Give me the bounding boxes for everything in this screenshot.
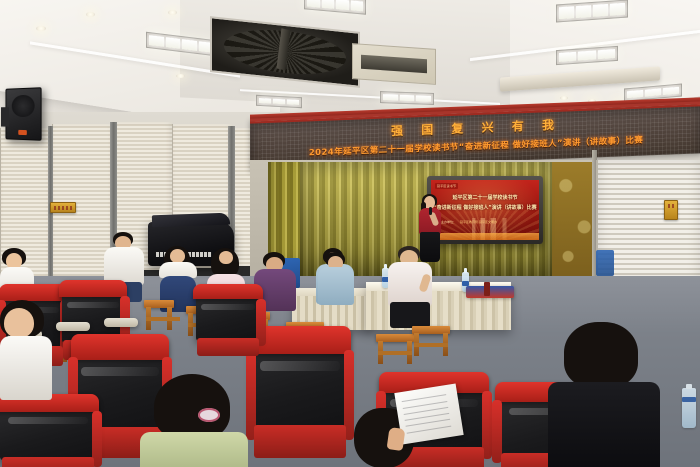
slide-meta: 主办单位： 延平区教育局·延平区文明办 — [441, 220, 497, 224]
judge-center-legs — [390, 302, 430, 328]
slide-meta-value: 延平区教育局·延平区文明办 — [460, 220, 497, 224]
child-front-shirt — [0, 336, 52, 400]
armrest-3 — [104, 318, 138, 327]
green-woman-hair-tie — [198, 408, 220, 422]
green-woman-top — [140, 432, 248, 467]
banner-headline: 强 国 复 兴 有 我 — [391, 116, 561, 140]
slide-corner-tag: 延平区读书节 — [435, 183, 458, 189]
seat-row1-2[interactable] — [252, 330, 348, 458]
light-panel-5 — [380, 91, 434, 105]
black-man-suit — [548, 382, 660, 467]
pink-girl-head — [219, 251, 233, 264]
wall-plaque — [50, 202, 76, 213]
piano-lid — [152, 213, 230, 228]
downlight-icon-4 — [176, 74, 185, 78]
stool-5 — [412, 326, 450, 356]
light-panel-6 — [256, 95, 302, 108]
auditorium-scene: 强 国 复 兴 有 我 2024年延平区第二十一届学校读书节“奋进新征程 做好接… — [0, 0, 700, 467]
seat-row2-3[interactable] — [196, 288, 260, 356]
audience-child-front — [0, 300, 58, 410]
overall-girl-head — [170, 249, 185, 263]
green-woman-hair — [154, 374, 230, 440]
stool-4 — [376, 334, 414, 364]
slide-meta-label: 主办单位： — [441, 220, 456, 224]
slide-subtitle: “奋进新征程 做好接班人”演讲（讲故事）比赛 — [433, 204, 536, 211]
slide-ribbon — [431, 233, 539, 240]
black-man-hair — [564, 322, 638, 388]
child-front-head — [4, 308, 34, 338]
audience-man-black — [548, 322, 658, 467]
stool-6 — [144, 300, 174, 324]
printed-speech-paper — [394, 383, 463, 444]
table-documents — [466, 286, 514, 298]
blue-man-torso — [318, 267, 354, 305]
slide-title: 延平区第二十一届学校读书节 — [452, 194, 517, 201]
microphone-icon — [429, 207, 432, 215]
water-bottle-3 — [682, 388, 696, 428]
reader-hand — [387, 427, 406, 451]
wall-speaker-left — [5, 87, 41, 141]
armrest-2 — [56, 322, 90, 331]
judge-center — [388, 246, 432, 316]
wall-plaque-right — [664, 200, 678, 220]
downlight-icon-1 — [36, 26, 46, 31]
downlight-icon-5 — [560, 96, 568, 100]
ac-cassette-unit — [352, 43, 436, 85]
projection-screen-frame: 延平区读书节 延平区第二十一届学校读书节 “奋进新征程 做好接班人”演讲（讲故事… — [427, 176, 543, 244]
audience-woman-green — [140, 374, 248, 467]
downlight-icon-3 — [168, 10, 177, 15]
projection-screen: 延平区读书节 延平区第二十一届学校读书节 “奋进新征程 做好接班人”演讲（讲故事… — [431, 180, 539, 240]
audience-man-blue — [318, 252, 354, 310]
downlight-icon-2 — [86, 12, 95, 17]
blue-bag-right — [596, 250, 614, 276]
